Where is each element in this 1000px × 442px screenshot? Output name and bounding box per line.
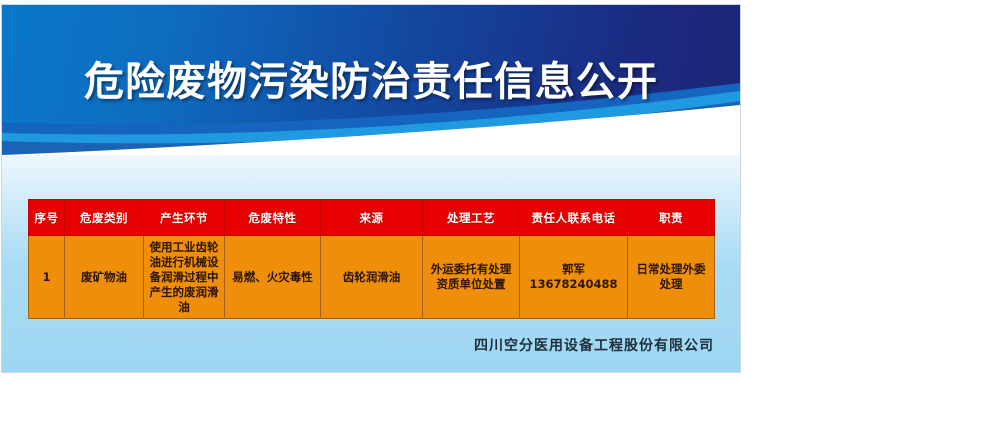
disclosure-table-wrap: 序号 危废类别 产生环节 危废特性 来源 处理工艺 责任人联系电话 职责 1 废… — [28, 199, 714, 319]
cell-duty: 日常处理外委处理 — [628, 236, 715, 319]
column-header-contact: 责任人联系电话 — [520, 200, 628, 236]
column-header-category: 危废类别 — [65, 200, 144, 236]
table-row: 1 废矿物油 使用工业齿轮油进行机械设备润滑过程中产生的废润滑油 易燃、火灾毒性… — [29, 236, 715, 319]
poster-banner: 危险废物污染防治责任信息公开 — [2, 5, 740, 137]
screenshot-canvas: 危险废物污染防治责任信息公开 序号 危废类别 — [0, 0, 1000, 442]
cell-characteristics: 易燃、火灾毒性 — [225, 236, 321, 319]
disclosure-poster: 危险废物污染防治责任信息公开 序号 危废类别 — [2, 5, 740, 372]
column-header-generation: 产生环节 — [144, 200, 225, 236]
cell-process: 外运委托有处理资质单位处置 — [423, 236, 520, 319]
cell-index: 1 — [29, 236, 65, 319]
cell-category: 废矿物油 — [65, 236, 144, 319]
column-header-duty: 职责 — [628, 200, 715, 236]
cell-contact: 郭军 13678240488 — [520, 236, 628, 319]
contact-name: 郭军 — [523, 262, 624, 277]
cell-generation: 使用工业齿轮油进行机械设备润滑过程中产生的废润滑油 — [144, 236, 225, 319]
cell-source: 齿轮润滑油 — [321, 236, 423, 319]
column-header-characteristics: 危废特性 — [225, 200, 321, 236]
disclosure-table: 序号 危废类别 产生环节 危废特性 来源 处理工艺 责任人联系电话 职责 1 废… — [28, 199, 715, 319]
column-header-process: 处理工艺 — [423, 200, 520, 236]
table-header-row: 序号 危废类别 产生环节 危废特性 来源 处理工艺 责任人联系电话 职责 — [29, 200, 715, 236]
page-title: 危险废物污染防治责任信息公开 — [2, 49, 740, 107]
contact-phone: 13678240488 — [523, 277, 624, 292]
column-header-index: 序号 — [29, 200, 65, 236]
company-name: 四川空分医用设备工程股份有限公司 — [2, 335, 714, 355]
column-header-source: 来源 — [321, 200, 423, 236]
